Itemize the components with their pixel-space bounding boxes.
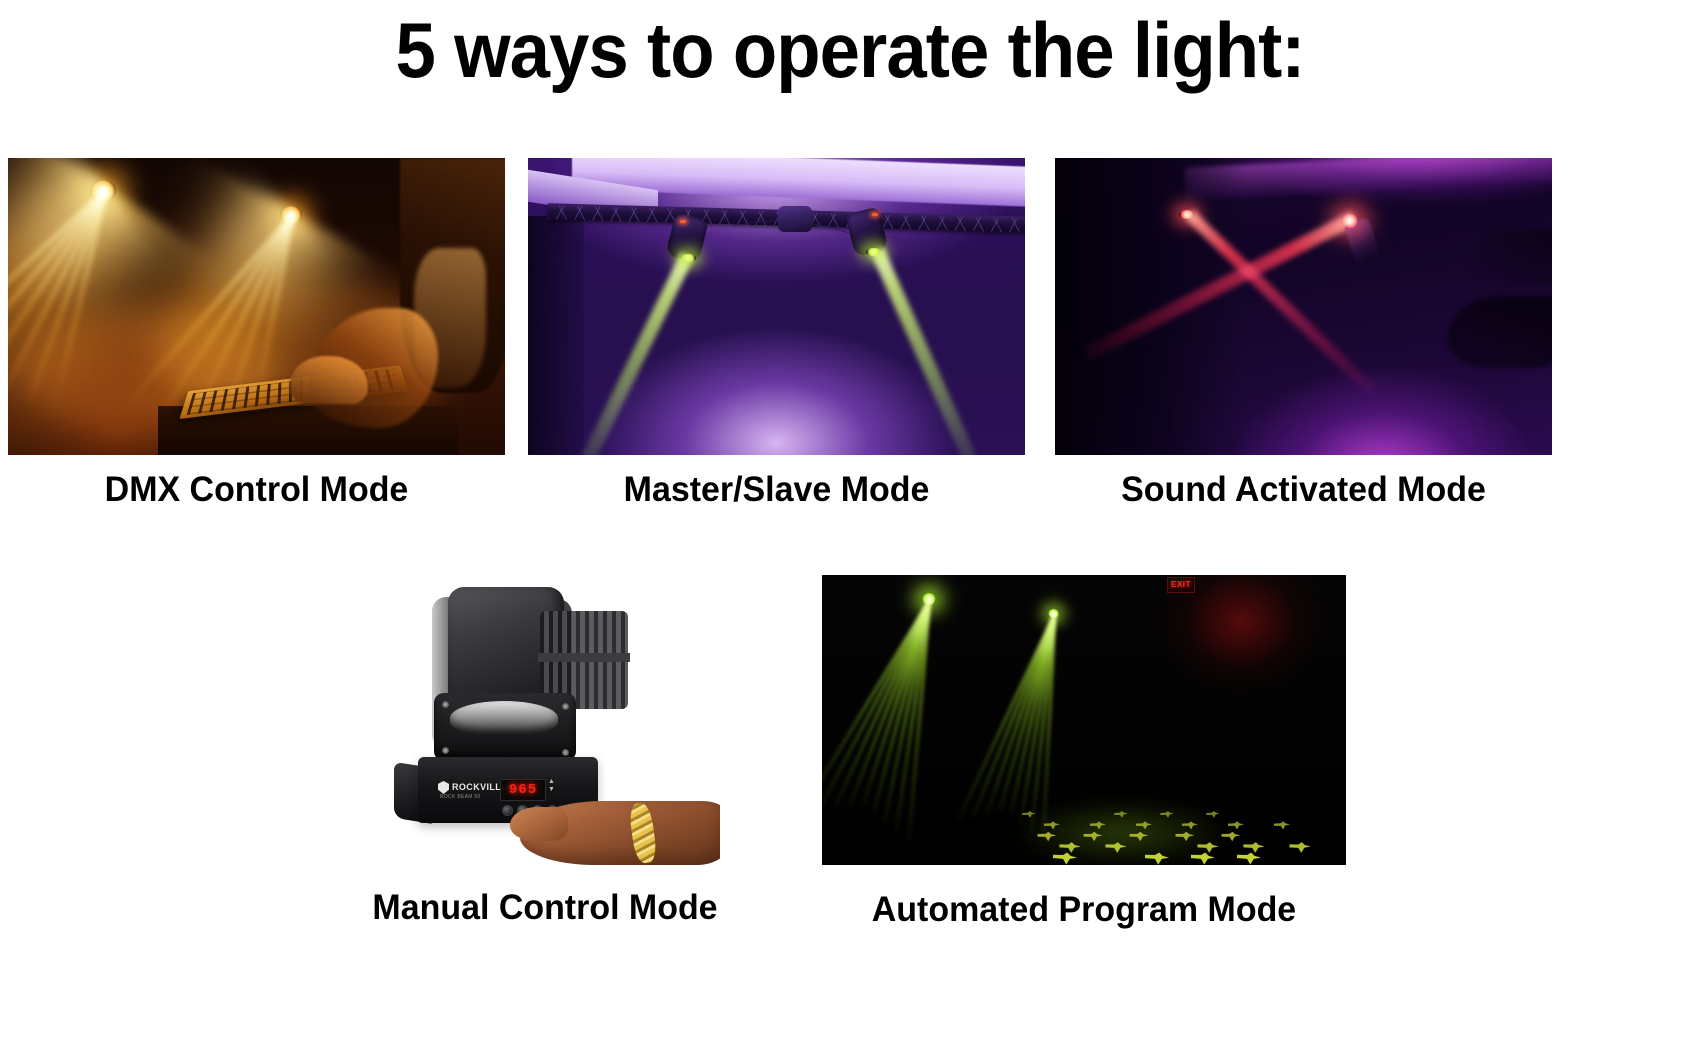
gobo-shape [1160,811,1174,819]
beam-source-light [1341,214,1359,228]
caption-manual-control-mode: Manual Control Mode [278,888,812,928]
scene-automated-program: EXIT [822,575,1346,865]
silhouette-shape [1475,230,1552,286]
arrow-up-icon: ▲ [548,778,555,785]
beam-source-light [680,254,696,262]
photo-dmx-control-mode [8,158,505,455]
gobo-shape [1044,821,1061,830]
beam-source-light [1179,210,1195,219]
fixture-indicator-led [680,220,686,223]
led-display-value: 965 [509,783,537,797]
light-beam [871,247,977,455]
caption-sound-activated-mode: Sound Activated Mode [1062,470,1544,510]
gobo-shape [1114,811,1128,819]
led-display: 965 [500,779,546,801]
beam-source-light [1048,609,1059,618]
gobo-shape [1037,832,1056,842]
gobo-shape [1243,842,1265,853]
arrow-down-icon: ▼ [548,786,555,793]
brand-logo: ROCKVILLE [438,781,508,794]
gobo-shape [1182,821,1199,830]
exit-sign: EXIT [1167,577,1195,593]
shield-icon [438,781,449,794]
gobo-shape [1197,842,1219,853]
gobo-projection-grid [1018,807,1318,865]
beam-source-light [922,593,936,605]
photo-manual-control-mode: ROCKVILLE ROCK BEAM 50 965 ▲ ▼ [370,575,720,866]
gobo-shape [1221,832,1240,842]
gobo-shape [1022,811,1036,819]
caption-master-slave-mode: Master/Slave Mode [535,470,1017,510]
gobo-shape [1289,842,1311,853]
screw-icon [442,701,449,708]
user-finger [510,807,568,841]
light-beam [580,253,693,455]
scene-dmx [8,158,505,455]
display-arrows-icon: ▲ ▼ [548,778,555,794]
gobo-shape [1228,821,1245,830]
caption-dmx-control-mode: DMX Control Mode [15,470,497,510]
side-curtain [528,216,584,455]
gobo-shape [1191,852,1216,865]
product-model-label: ROCK BEAM 50 [440,794,481,800]
fixture-indicator-led [872,213,878,216]
gobo-shape [1053,852,1078,865]
scene-master-slave [528,158,1025,455]
page-title: 5 ways to operate the light: [60,6,1641,94]
gobo-shape [1136,821,1153,830]
gobo-shape [1105,842,1127,853]
gobo-shape [1129,832,1148,842]
scene-manual-control: ROCKVILLE ROCK BEAM 50 965 ▲ ▼ [370,575,720,866]
photo-master-slave-mode [528,158,1025,455]
gobo-shape [1274,821,1291,830]
gobo-shape [1090,821,1107,830]
cable-bundle [778,206,812,232]
screw-icon [562,703,569,710]
gobo-shape [1206,811,1220,819]
dark-wall [1055,158,1245,455]
scene-sound-activated [1055,158,1552,455]
fixture-lens [450,701,558,735]
gobo-shape [1175,832,1194,842]
gobo-shape [1145,852,1170,865]
photo-sound-activated-mode [1055,158,1552,455]
gobo-shape [1237,852,1262,865]
screw-icon [442,747,449,754]
photo-automated-program-mode: EXIT [822,575,1346,865]
silhouette-hand [1447,296,1552,368]
caption-automated-program-mode: Automated Program Mode [830,890,1338,930]
screw-icon [562,749,569,756]
exit-sign-label: EXIT [1171,581,1191,589]
fixture-vent-band [538,653,630,662]
gobo-shape [1083,832,1102,842]
gobo-shape [1059,842,1081,853]
beam-source-light [866,248,882,256]
control-button[interactable] [502,805,513,816]
